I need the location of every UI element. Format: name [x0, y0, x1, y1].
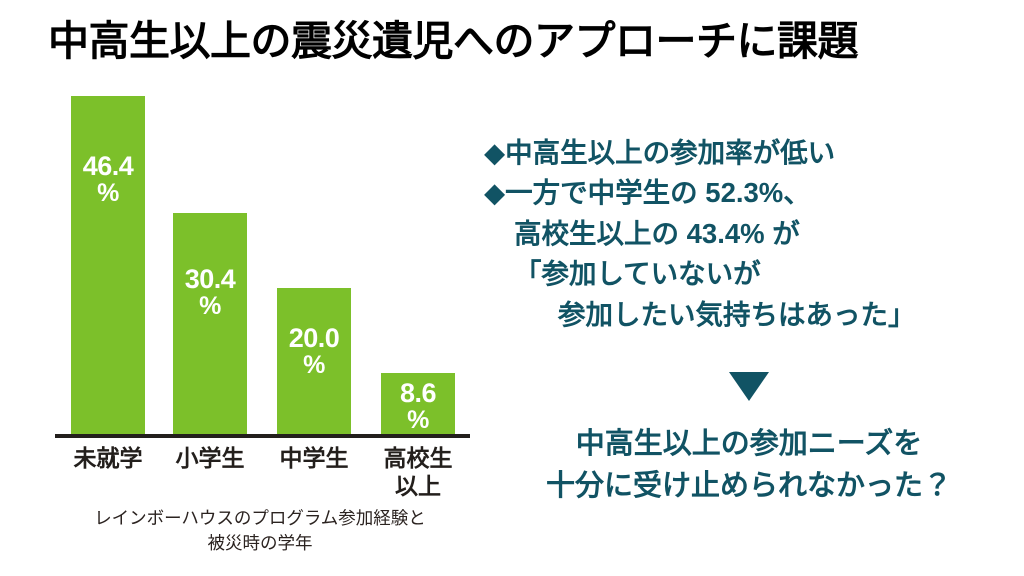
- tick-label-shogakusei-line1: 小学生: [176, 445, 245, 471]
- bar-value-label-3: 20.0 %: [277, 324, 351, 380]
- slide-canvas: 中高生以上の震災遺児へのアプローチに課題 46.4 % 30.4 %: [0, 0, 1024, 576]
- note-line-2: ◆一方で中学生の 52.3%、: [484, 173, 1014, 213]
- chart-caption: レインボーハウスのプログラム参加経験と 被災時の学年: [40, 506, 480, 557]
- bar-unit-3: %: [277, 352, 351, 380]
- chart-plot-area: 46.4 % 30.4 % 20.0 %: [55, 96, 470, 437]
- conclusion-line-2: 十分に受け止められなかった？: [484, 465, 1014, 507]
- x-axis-line: [55, 434, 470, 438]
- bar-chugakusei[interactable]: 20.0 %: [277, 288, 351, 437]
- bar-value-label-4: 8.6 %: [381, 379, 455, 435]
- bar-unit-4: %: [381, 407, 455, 435]
- note-line-5: 参加したい気持ちはあった」: [484, 295, 1014, 335]
- chart-caption-line1: レインボーハウスのプログラム参加経験と: [94, 508, 426, 528]
- tick-label-chugakusei: 中学生: [266, 444, 362, 472]
- tick-label-koukousei-ijou: 高校生 以上: [370, 444, 466, 500]
- bar-value-2: 30.4: [185, 264, 236, 294]
- conclusion-block: 中高生以上の参加ニーズを 十分に受け止められなかった？: [484, 423, 1014, 507]
- tick-label-koukousei-line2: 以上: [395, 473, 441, 499]
- bar-value-label-1: 46.4 %: [71, 152, 145, 208]
- chart-caption-line2: 被災時の学年: [208, 533, 313, 553]
- bar-misyugaku[interactable]: 46.4 %: [71, 96, 145, 437]
- bar-unit-1: %: [71, 180, 145, 208]
- note-line-4: 「参加していないが: [484, 254, 1014, 294]
- x-axis-tick-labels: 未就学 小学生 中学生 高校生 以上: [55, 444, 470, 506]
- bar-chart: 46.4 % 30.4 % 20.0 %: [0, 0, 480, 576]
- note-line-3: 高校生以上の 43.4% が: [484, 214, 1014, 254]
- bar-value-label-2: 30.4 %: [173, 265, 247, 321]
- conclusion-line-1: 中高生以上の参加ニーズを: [484, 423, 1014, 465]
- tick-label-chugakusei-line1: 中学生: [280, 445, 349, 471]
- bar-slot-2: 30.4 %: [173, 96, 247, 437]
- tick-label-misyugaku-line1: 未就学: [74, 445, 143, 471]
- note-line-1: ◆中高生以上の参加率が低い: [484, 133, 1014, 173]
- bar-slot-4: 8.6 %: [381, 96, 455, 437]
- bar-shogakusei[interactable]: 30.4 %: [173, 213, 247, 437]
- tick-label-misyugaku: 未就学: [60, 444, 156, 472]
- bar-value-1: 46.4: [83, 151, 134, 181]
- arrow-row: [484, 372, 1014, 406]
- tick-label-shogakusei: 小学生: [162, 444, 258, 472]
- tick-label-koukousei-line1: 高校生: [384, 445, 453, 471]
- bar-slot-3: 20.0 %: [277, 96, 351, 437]
- bar-unit-2: %: [173, 293, 247, 321]
- bar-value-4: 8.6: [400, 378, 436, 408]
- down-triangle-icon: [729, 372, 769, 401]
- bar-value-3: 20.0: [289, 323, 340, 353]
- notes-block: ◆中高生以上の参加率が低い ◆一方で中学生の 52.3%、 高校生以上の 43.…: [484, 133, 1014, 335]
- bar-koukousei-ijou[interactable]: 8.6 %: [381, 373, 455, 437]
- bar-slot-1: 46.4 %: [71, 96, 145, 437]
